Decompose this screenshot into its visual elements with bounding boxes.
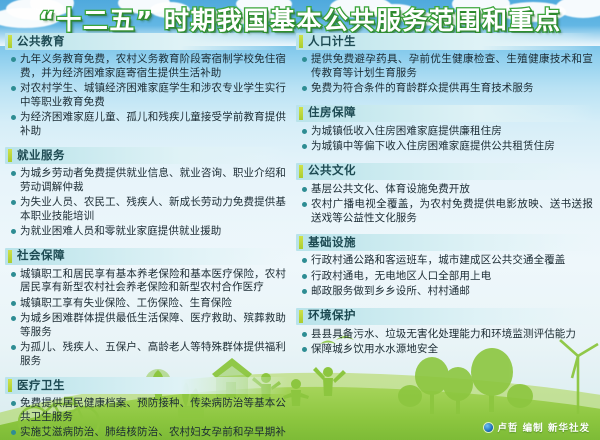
content-columns: 公共教育 九年义务教育免费，农村义务教育阶段寄宿制学校免住宿费，并为经济困难家庭… [0,33,600,440]
section-accent-bar [299,236,303,249]
list-item-text: 对农村学生、城镇经济困难家庭学生和涉农专业学生实行中等职业教育免费 [20,82,286,109]
list-item-text: 为城乡劳动者免费提供就业信息、就业咨询、职业介绍和劳动调解仲裁 [20,167,286,194]
section-accent-bar [8,35,12,48]
section-title: 人口计生 [308,36,356,48]
section-title: 基础设施 [308,237,356,249]
list-item-text: 为就业困难人员和零就业家庭提供就业援助 [20,225,221,239]
right-column: 人口计生 提供免费避孕药具、孕前优生健康检查、生殖健康技术和宣传教育等计划生育服… [296,33,595,440]
section-accent-bar [8,379,12,392]
list-item: 农村广播电视全覆盖，为农村免费提供电影放映、送书送报送戏等公益性文化服务 [300,198,593,225]
bullet-icon [11,57,16,62]
section-public-education: 公共教育 九年义务教育免费，农村义务教育阶段寄宿制学校免住宿费，并为经济困难家庭… [5,33,288,143]
list-item: 为失业人员、农民工、残疾人、新成长劳动力免费提供基本职业技能培训 [9,196,286,223]
list-item-text: 农村广播电视全覆盖，为农村免费提供电影放映、送书送报送戏等公益性文化服务 [311,198,593,225]
bullet-icon [11,430,16,435]
list-item-text: 实施艾滋病防治、肺结核防治、农村妇女孕前和孕早期补服叶酸等重大公共卫生服务专项 [20,426,286,440]
list-item: 为经济困难家庭儿童、孤儿和残疾儿童接受学前教育提供补助 [9,111,286,138]
section-accent-bar [8,149,12,162]
list-item-text: 免费为符合条件的育龄群众提供再生育技术服务 [311,82,534,96]
section-medical-health: 医疗卫生 免费提供居民健康档案、预防接种、传染病防治等基本公共卫生服务 实施艾滋… [5,377,288,440]
list-item: 邮政服务做到乡乡设所、村村通邮 [300,285,593,299]
list-item-text: 为城镇中等偏下收入住房困难家庭提供公共租赁住房 [311,140,555,154]
left-column: 公共教育 九年义务教育免费，农村义务教育阶段寄宿制学校免住宿费，并为经济困难家庭… [5,33,288,440]
section-body: 基层公共文化、体育设施免费开放 农村广播电视全覆盖，为农村免费提供电影放映、送书… [296,182,595,231]
list-item-text: 保障城乡饮用水水源地安全 [311,343,438,357]
section-population-family-planning: 人口计生 提供免费避孕药具、孕前优生健康检查、生殖健康技术和宣传教育等计划生育服… [296,33,595,101]
section-header: 人口计生 [296,33,595,50]
list-item: 城镇职工享有失业保险、工伤保险、生育保险 [9,297,286,311]
list-item: 提供免费避孕药具、孕前优生健康检查、生殖健康技术和宣传教育等计划生育服务 [300,53,593,80]
section-title: 公共教育 [17,36,65,48]
section-title: 就业服务 [17,150,65,162]
bullet-icon [302,332,307,337]
bullet-icon [302,347,307,352]
section-accent-bar [299,165,303,178]
bullet-icon [11,316,16,321]
bullet-icon [302,144,307,149]
list-item: 九年义务教育免费，农村义务教育阶段寄宿制学校免住宿费，并为经济困难家庭寄宿生提供… [9,53,286,80]
list-item-text: 为城乡困难群体提供最低生活保障、医疗救助、殡葬救助等服务 [20,312,286,339]
section-social-security: 社会保障 城镇职工和居民享有基本养老保险和基本医疗保险，农村居民享有新型农村社会… [5,248,288,374]
list-item-text: 提供免费避孕药具、孕前优生健康检查、生殖健康技术和宣传教育等计划生育服务 [311,53,593,80]
bullet-icon [302,289,307,294]
section-header: 医疗卫生 [5,377,288,394]
list-item: 行政村通公路和客运班车，城市建成区公共交通全覆盖 [300,254,593,268]
list-item: 基层公共文化、体育设施免费开放 [300,183,593,197]
list-item: 为城镇低收入住房困难家庭提供廉租住房 [300,125,593,139]
list-item-text: 为失业人员、农民工、残疾人、新成长劳动力免费提供基本职业技能培训 [20,196,286,223]
section-accent-bar [299,35,303,48]
section-body: 提供免费避孕药具、孕前优生健康检查、生殖健康技术和宣传教育等计划生育服务 免费为… [296,52,595,101]
section-header: 就业服务 [5,147,288,164]
list-item-text: 为经济困难家庭儿童、孤儿和残疾儿童接受学前教育提供补助 [20,111,286,138]
section-header: 社会保障 [5,248,288,265]
list-item-text: 为城镇低收入住房困难家庭提供廉租住房 [311,125,502,139]
section-title: 环境保护 [308,310,356,322]
section-body: 免费提供居民健康档案、预防接种、传染病防治等基本公共卫生服务 实施艾滋病防治、肺… [5,396,288,440]
bullet-icon [11,171,16,176]
list-item: 为孤儿、残疾人、五保户、高龄老人等特殊群体提供福利服务 [9,341,286,368]
list-item: 城镇职工和居民享有基本养老保险和基本医疗保险，农村居民享有新型农村社会养老保险和… [9,268,286,295]
section-header: 环境保护 [296,308,595,325]
section-body: 九年义务教育免费，农村义务教育阶段寄宿制学校免住宿费，并为经济困难家庭寄宿生提供… [5,52,288,143]
section-title: 医疗卫生 [17,380,65,392]
section-accent-bar [299,310,303,323]
bullet-icon [11,115,16,120]
bullet-icon [302,86,307,91]
list-item-text: 基层公共文化、体育设施免费开放 [311,183,470,197]
bullet-icon [302,57,307,62]
section-body: 行政村通公路和客运班车，城市建成区公共交通全覆盖 行政村通电，无电地区人口全部用… [296,253,595,304]
list-item-text: 行政村通电，无电地区人口全部用上电 [311,270,491,284]
list-item: 对农村学生、城镇经济困难家庭学生和涉农专业学生实行中等职业教育免费 [9,82,286,109]
section-infrastructure: 基础设施 行政村通公路和客运班车，城市建成区公共交通全覆盖 行政村通电，无电地区… [296,234,595,304]
bullet-icon [11,345,16,350]
page-title: “十二五” 时期我国基本公共服务范围和重点 [38,1,561,37]
section-accent-bar [8,250,12,263]
section-public-culture: 公共文化 基层公共文化、体育设施免费开放 农村广播电视全覆盖，为农村免费提供电影… [296,163,595,231]
list-item: 保障城乡饮用水水源地安全 [300,343,593,357]
list-item-text: 城镇职工和居民享有基本养老保险和基本医疗保险，农村居民享有新型农村社会养老保险和… [20,268,286,295]
section-body: 城镇职工和居民享有基本养老保险和基本医疗保险，农村居民享有新型农村社会养老保险和… [5,267,288,374]
list-item-text: 县县具备污水、垃圾无害化处理能力和环境监测评估能力 [311,328,576,342]
list-item: 行政村通电，无电地区人口全部用上电 [300,270,593,284]
list-item: 实施艾滋病防治、肺结核防治、农村妇女孕前和孕早期补服叶酸等重大公共卫生服务专项 [9,426,286,440]
list-item-text: 城镇职工享有失业保险、工伤保险、生育保险 [20,297,232,311]
list-item-text: 邮政服务做到乡乡设所、村村通邮 [311,285,470,299]
section-title: 社会保障 [17,250,65,262]
bullet-icon [302,274,307,279]
xinhua-logo-icon [484,423,493,432]
bullet-icon [11,401,16,406]
section-title: 公共文化 [308,165,356,177]
list-item-text: 行政村通公路和客运班车，城市建成区公共交通全覆盖 [311,254,565,268]
section-body: 为城镇低收入住房困难家庭提供廉租住房 为城镇中等偏下收入住房困难家庭提供公共租赁… [296,124,595,159]
bullet-icon [11,86,16,91]
list-item: 免费为符合条件的育龄群众提供再生育技术服务 [300,82,593,96]
section-environmental-protection: 环境保护 县县具备污水、垃圾无害化处理能力和环境监测评估能力 保障城乡饮用水水源… [296,308,595,362]
bullet-icon [302,129,307,134]
section-title: 住房保障 [308,107,356,119]
section-employment-service: 就业服务 为城乡劳动者免费提供就业信息、就业咨询、职业介绍和劳动调解仲裁 为失业… [5,147,288,244]
section-accent-bar [299,107,303,120]
infographic-poster: “十二五” 时期我国基本公共服务范围和重点 [0,0,600,440]
list-item-text: 免费提供居民健康档案、预防接种、传染病防治等基本公共卫生服务 [20,397,286,424]
bullet-icon [302,187,307,192]
list-item: 为城乡困难群体提供最低生活保障、医疗救助、殡葬救助等服务 [9,312,286,339]
bullet-icon [302,258,307,263]
section-body: 为城乡劳动者免费提供就业信息、就业咨询、职业介绍和劳动调解仲裁 为失业人员、农民… [5,166,288,244]
list-item: 免费提供居民健康档案、预防接种、传染病防治等基本公共卫生服务 [9,397,286,424]
section-header: 公共教育 [5,33,288,50]
bullet-icon [11,301,16,306]
section-header: 基础设施 [296,234,595,251]
section-body: 县县具备污水、垃圾无害化处理能力和环境监测评估能力 保障城乡饮用水水源地安全 [296,327,595,362]
section-header: 住房保障 [296,105,595,122]
list-item: 县县具备污水、垃圾无害化处理能力和环境监测评估能力 [300,328,593,342]
section-header: 公共文化 [296,163,595,180]
list-item: 为就业困难人员和零就业家庭提供就业援助 [9,225,286,239]
list-item-text: 九年义务教育免费，农村义务教育阶段寄宿制学校免住宿费，并为经济困难家庭寄宿生提供… [20,53,286,80]
bullet-icon [11,229,16,234]
section-housing-security: 住房保障 为城镇低收入住房困难家庭提供廉租住房 为城镇中等偏下收入住房困难家庭提… [296,105,595,159]
bullet-icon [11,272,16,277]
list-item-text: 为孤儿、残疾人、五保户、高龄老人等特殊群体提供福利服务 [20,341,286,368]
credit-text: 卢哲 编制 新华社发 [497,420,590,434]
credit-line: 卢哲 编制 新华社发 [484,420,590,434]
bullet-icon [302,202,307,207]
list-item: 为城乡劳动者免费提供就业信息、就业咨询、职业介绍和劳动调解仲裁 [9,167,286,194]
bullet-icon [11,200,16,205]
list-item: 为城镇中等偏下收入住房困难家庭提供公共租赁住房 [300,140,593,154]
